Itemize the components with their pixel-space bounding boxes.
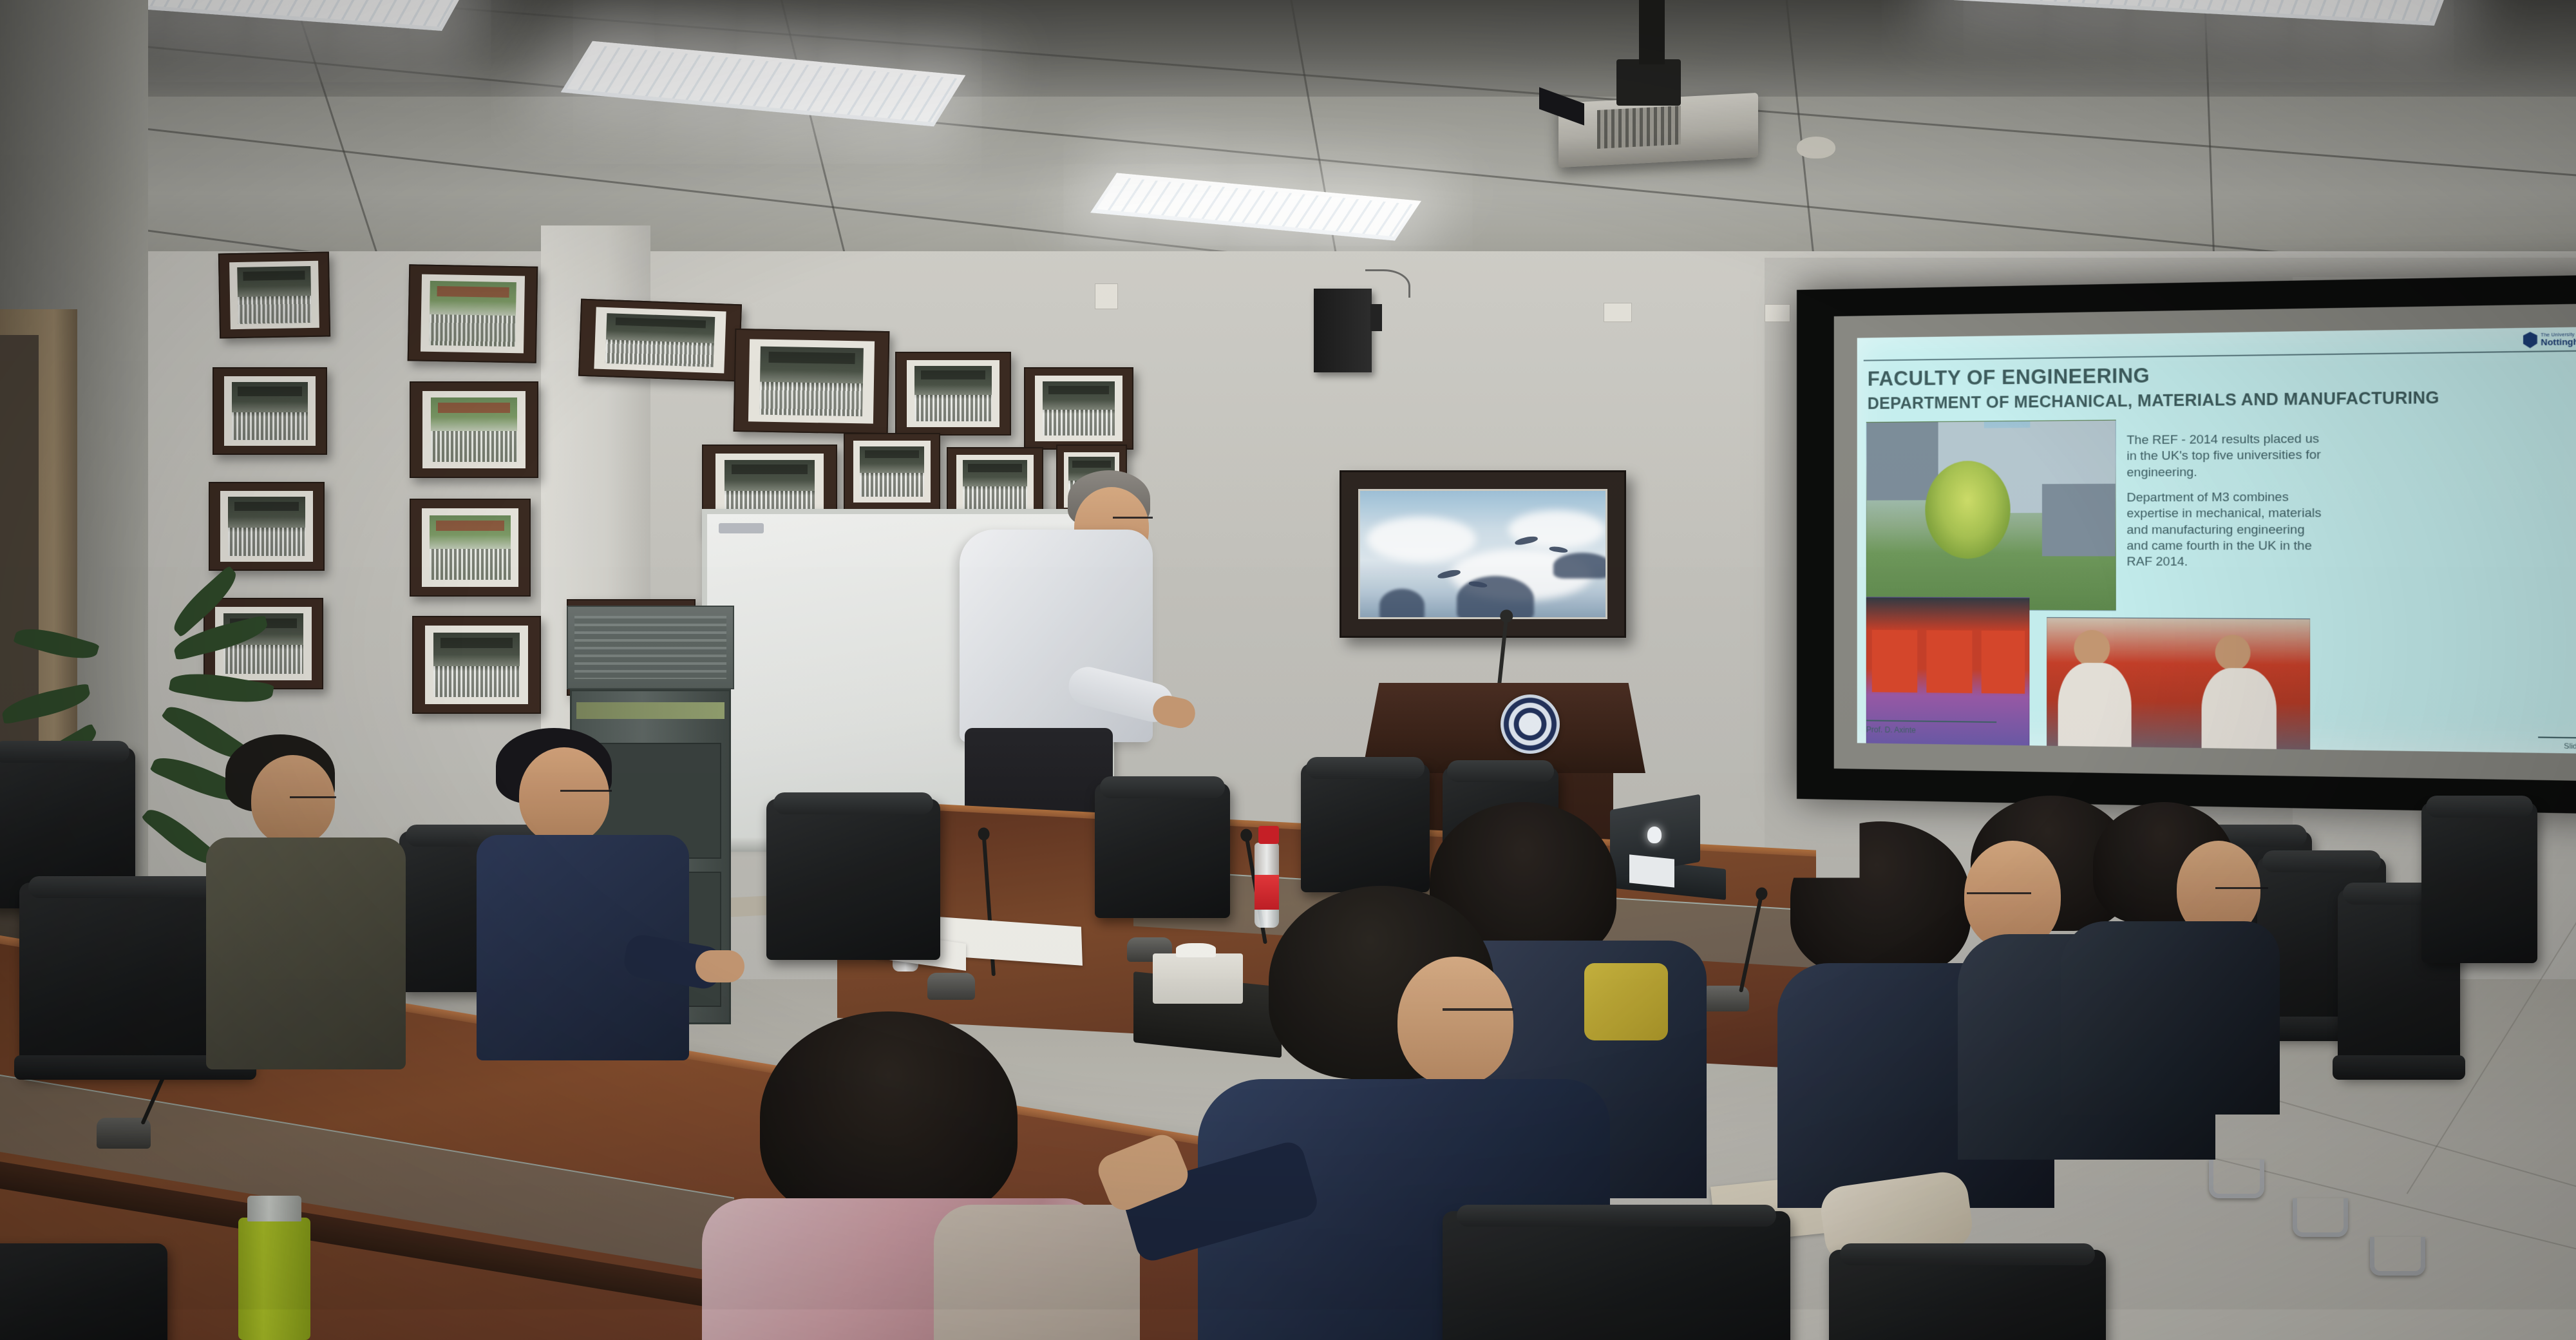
chair-base <box>2370 1237 2425 1276</box>
office-chair[interactable] <box>1443 1211 1790 1340</box>
campus-building-photo <box>1866 420 2116 611</box>
framed-group-photo <box>578 299 742 382</box>
attendee-dark-jacket-c <box>2054 802 2286 1111</box>
slide-author: Prof. D. Axinte <box>1866 725 1916 734</box>
slide-paragraph-2: Department of M3 combines expertise in m… <box>2126 490 2324 571</box>
framed-group-photo <box>734 329 890 434</box>
attendee-glasses <box>1443 1008 1513 1011</box>
framed-group-photo <box>213 367 327 455</box>
wall-speaker <box>1314 289 1372 372</box>
attendee-glasses <box>2215 887 2268 889</box>
chair-base <box>2293 1198 2348 1237</box>
framed-group-photo <box>209 482 325 571</box>
attendee-torso <box>206 837 406 1069</box>
attendee-torso <box>2061 921 2280 1115</box>
chair-base <box>2209 1160 2264 1198</box>
framed-group-photo <box>410 381 538 478</box>
bottle-cap <box>1258 826 1279 844</box>
slide-number-rule <box>2538 736 2576 738</box>
wall-socket-plate <box>1604 303 1632 322</box>
framed-group-photo <box>895 352 1011 436</box>
attendee-glasses <box>560 790 612 792</box>
cabinet-label-strip <box>576 702 724 719</box>
attendee-hand <box>696 950 744 982</box>
attendee-head <box>1397 957 1513 1086</box>
painting-canvas <box>1358 489 1607 619</box>
conference-room-photo: The University of Nottingham FACULTY OF … <box>0 0 2576 1340</box>
attendee-head <box>251 755 335 845</box>
framed-group-photo <box>410 499 531 597</box>
office-chair[interactable] <box>766 799 940 960</box>
framed-group-photo <box>408 264 538 363</box>
slide-body-text: The REF - 2014 results placed us in the … <box>2126 431 2324 580</box>
thermos-flask <box>238 1218 310 1340</box>
framed-group-photo <box>844 433 940 510</box>
slide-paragraph-1: The REF - 2014 results placed us in the … <box>2126 431 2324 481</box>
nottingham-logo: The University of Nottingham <box>2523 331 2576 349</box>
attendee-glasses <box>290 796 336 798</box>
smoke-detector-icon <box>1797 137 1835 158</box>
microphone-base <box>927 973 975 1000</box>
attendee-hair <box>1790 821 1971 976</box>
attendee-navy-sweater <box>477 728 696 1057</box>
framed-group-photo <box>1024 367 1133 450</box>
framed-painting <box>1340 470 1626 638</box>
attendee-olive-jacket <box>206 734 419 1069</box>
slide-subheading: DEPARTMENT OF MECHANICAL, MATERIALS AND … <box>1868 388 2439 414</box>
wall-socket-plate <box>1095 283 1118 309</box>
equipment-rack <box>567 606 734 689</box>
laboratory-students-photo <box>2047 617 2310 754</box>
office-chair[interactable] <box>2421 802 2537 963</box>
screen-frame: The University of Nottingham FACULTY OF … <box>1834 303 2576 781</box>
office-chair[interactable] <box>1829 1250 2106 1340</box>
projector-mount <box>1616 59 1681 106</box>
projector-pole <box>1639 0 1665 64</box>
university-crest-icon <box>2523 332 2537 349</box>
slide-number: Slide 3 <box>2564 742 2576 751</box>
logo-line-2: Nottingham <box>2541 337 2576 347</box>
projection-screen: The University of Nottingham FACULTY OF … <box>1797 274 2576 814</box>
tree <box>1925 461 2010 559</box>
framed-group-photo <box>218 252 330 339</box>
presentation-slide: The University of Nottingham FACULTY OF … <box>1857 327 2576 754</box>
attendee-hair <box>760 1011 1018 1224</box>
university-emblem <box>1501 694 1560 754</box>
attendee-head <box>519 747 609 844</box>
attendee-pink-coat <box>702 1011 1121 1340</box>
slide-heading: FACULTY OF ENGINEERING <box>1868 364 2150 391</box>
projector-vents <box>1597 106 1681 149</box>
presenter-glasses <box>1113 517 1153 519</box>
thermos-lid <box>247 1196 301 1221</box>
wall-socket-plate <box>1765 304 1790 322</box>
whiteboard-brand-logo <box>719 523 764 533</box>
office-chair[interactable] <box>0 1243 167 1340</box>
slide-header-rule <box>1864 350 2576 361</box>
framed-group-photo <box>412 616 541 714</box>
attendee-fur-collar <box>934 1205 1140 1340</box>
attendee-glasses <box>1967 892 2031 894</box>
